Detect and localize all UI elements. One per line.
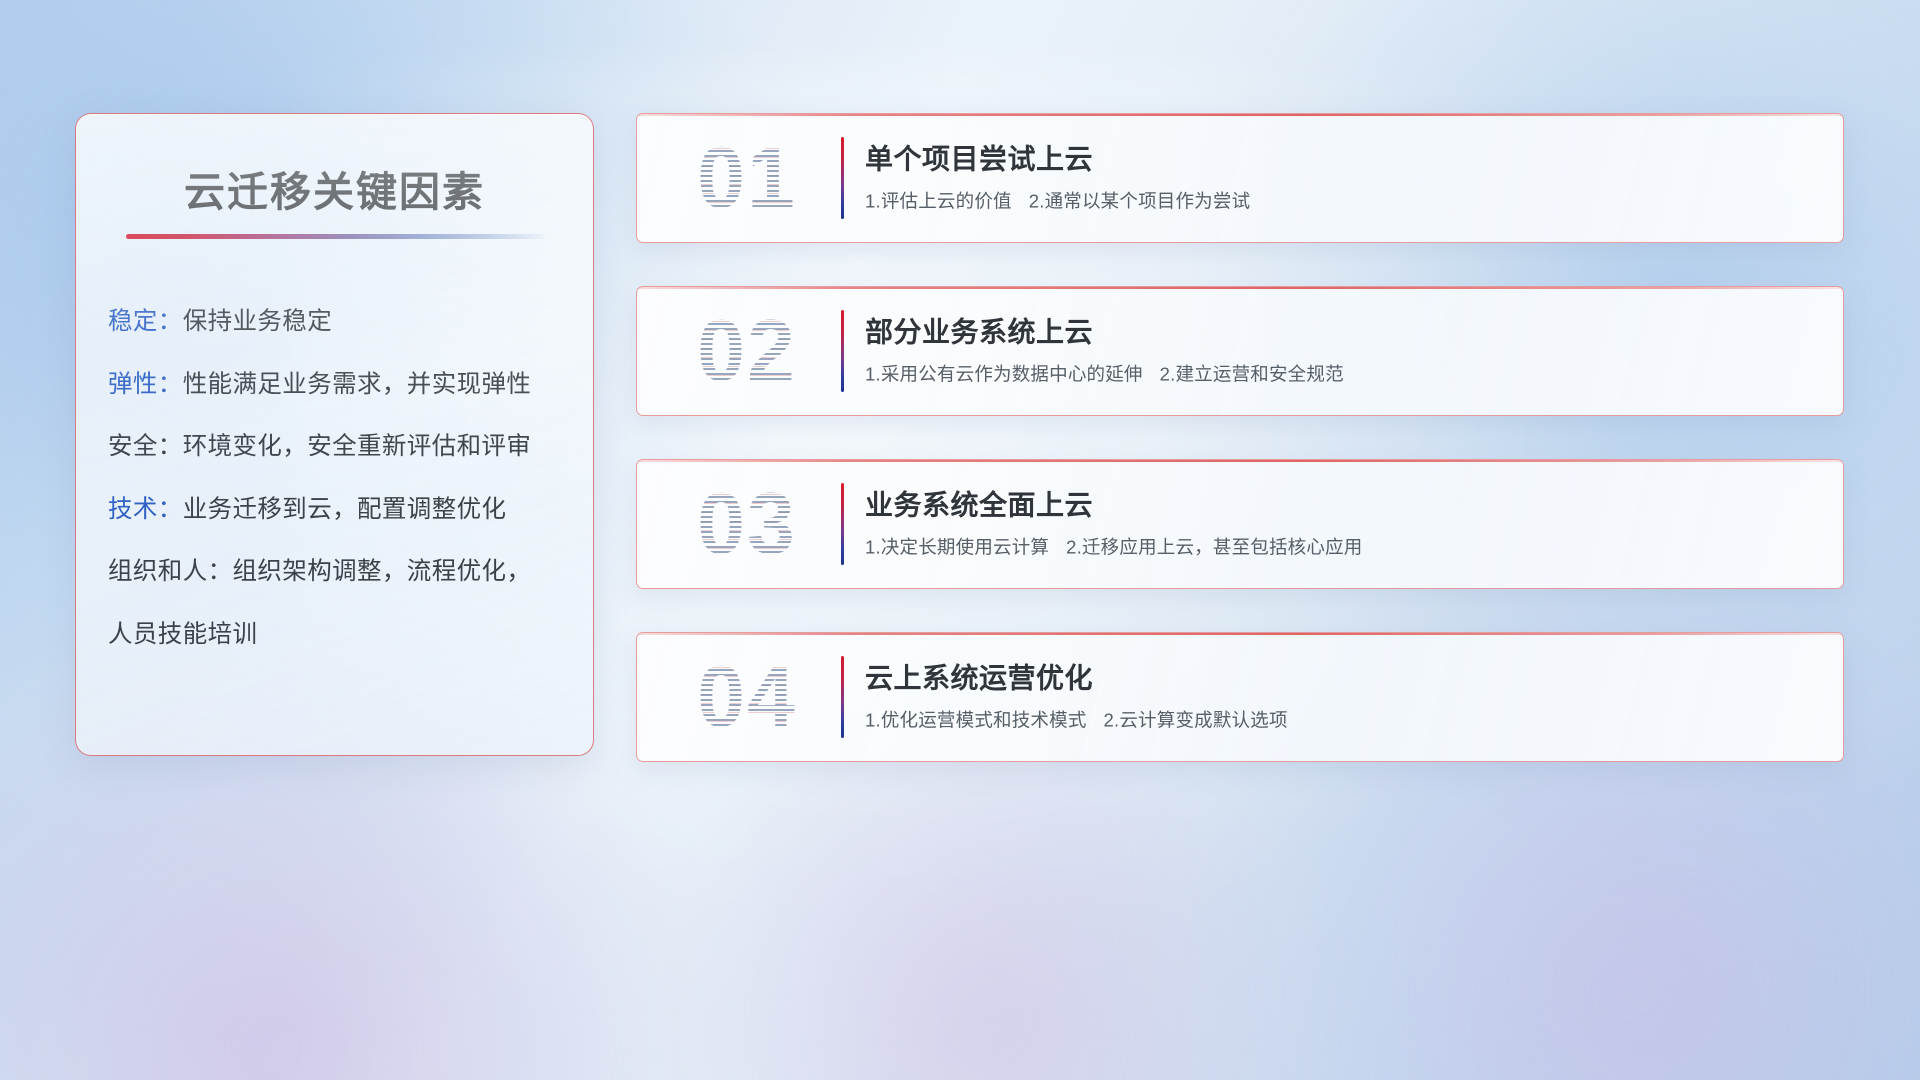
key-factors-list: 稳定：保持业务稳定 弹性：性能满足业务需求，并实现弹性 安全：环境变化，安全重新… xyxy=(108,310,575,685)
list-item: 组织和人：组织架构调整，流程优化， xyxy=(108,560,575,585)
stage-title: 业务系统全面上云 xyxy=(865,489,1817,523)
stage-subtitle: 1.优化运营模式和技术模式2.云计算变成默认选项 xyxy=(865,708,1817,732)
stage-subtitle: 1.采用公有云作为数据中心的延伸2.建立运营和安全规范 xyxy=(865,362,1817,386)
stage-subtitle-part-1: 1.采用公有云作为数据中心的延伸 xyxy=(865,363,1143,384)
title-underline-rule xyxy=(126,234,544,239)
list-item: 稳定：保持业务稳定 xyxy=(108,310,575,335)
stage-card[interactable]: 02 02 部分业务系统上云 1.采用公有云作为数据中心的延伸2.建立运营和安全… xyxy=(636,286,1844,416)
stage-subtitle-part-1: 1.决定长期使用云计算 xyxy=(865,536,1049,557)
stage-content: 云上系统运营优化 1.优化运营模式和技术模式2.云计算变成默认选项 xyxy=(865,662,1817,733)
stage-card[interactable]: 03 03 业务系统全面上云 1.决定长期使用云计算2.迁移应用上云，甚至包括核… xyxy=(636,459,1844,589)
stage-title: 云上系统运营优化 xyxy=(865,662,1817,696)
factor-text: 环境变化，安全重新评估和评审 xyxy=(183,433,532,460)
factor-label: 组织和人： xyxy=(108,558,233,585)
factor-label: 技术： xyxy=(108,496,183,523)
page-title: 云迁移关键因素 xyxy=(76,158,593,218)
stage-number: 02 xyxy=(661,303,833,399)
stage-accent-bar xyxy=(841,310,844,392)
stage-accent-bar xyxy=(841,137,844,219)
list-item: 安全：环境变化，安全重新评估和评审 xyxy=(108,435,575,460)
stage-subtitle-part-2: 2.云计算变成默认选项 xyxy=(1104,709,1288,730)
stage-number: 03 xyxy=(661,476,833,572)
migration-stages-list: 01 01 单个项目尝试上云 1.评估上云的价值2.通常以某个项目作为尝试 02… xyxy=(636,113,1844,805)
stage-card[interactable]: 01 01 单个项目尝试上云 1.评估上云的价值2.通常以某个项目作为尝试 xyxy=(636,113,1844,243)
stage-card[interactable]: 04 04 云上系统运营优化 1.优化运营模式和技术模式2.云计算变成默认选项 xyxy=(636,632,1844,762)
stage-content: 部分业务系统上云 1.采用公有云作为数据中心的延伸2.建立运营和安全规范 xyxy=(865,316,1817,387)
factor-label: 弹性： xyxy=(108,371,183,398)
stage-accent-bar xyxy=(841,483,844,565)
stage-subtitle-part-2: 2.通常以某个项目作为尝试 xyxy=(1029,190,1251,211)
stage-accent-bar xyxy=(841,656,844,738)
factor-text: 业务迁移到云，配置调整优化 xyxy=(183,496,507,523)
list-item-continuation: 人员技能培训 xyxy=(108,623,575,648)
stage-title: 单个项目尝试上云 xyxy=(865,143,1817,177)
stage-subtitle: 1.评估上云的价值2.通常以某个项目作为尝试 xyxy=(865,189,1817,213)
stage-subtitle: 1.决定长期使用云计算2.迁移应用上云，甚至包括核心应用 xyxy=(865,535,1817,559)
key-factors-panel: 云迁移关键因素 稳定：保持业务稳定 弹性：性能满足业务需求，并实现弹性 安全：环… xyxy=(75,113,594,756)
stage-number: 04 xyxy=(661,649,833,745)
stage-content: 业务系统全面上云 1.决定长期使用云计算2.迁移应用上云，甚至包括核心应用 xyxy=(865,489,1817,560)
factor-text: 人员技能培训 xyxy=(108,621,257,648)
stage-content: 单个项目尝试上云 1.评估上云的价值2.通常以某个项目作为尝试 xyxy=(865,143,1817,214)
slide-stage: 云迁移关键因素 稳定：保持业务稳定 弹性：性能满足业务需求，并实现弹性 安全：环… xyxy=(0,0,1920,1080)
factor-label: 安全： xyxy=(108,433,183,460)
stage-subtitle-part-1: 1.评估上云的价值 xyxy=(865,190,1012,211)
factor-text: 性能满足业务需求，并实现弹性 xyxy=(183,371,532,398)
factor-label: 稳定： xyxy=(108,308,183,335)
stage-title: 部分业务系统上云 xyxy=(865,316,1817,350)
list-item: 弹性：性能满足业务需求，并实现弹性 xyxy=(108,373,575,398)
factor-text: 保持业务稳定 xyxy=(183,308,332,335)
factor-text: 组织架构调整，流程优化， xyxy=(233,558,532,585)
stage-subtitle-part-1: 1.优化运营模式和技术模式 xyxy=(865,709,1087,730)
list-item: 技术：业务迁移到云，配置调整优化 xyxy=(108,498,575,523)
stage-subtitle-part-2: 2.迁移应用上云，甚至包括核心应用 xyxy=(1066,536,1362,557)
stage-subtitle-part-2: 2.建立运营和安全规范 xyxy=(1160,363,1344,384)
stage-number: 01 xyxy=(661,130,833,226)
